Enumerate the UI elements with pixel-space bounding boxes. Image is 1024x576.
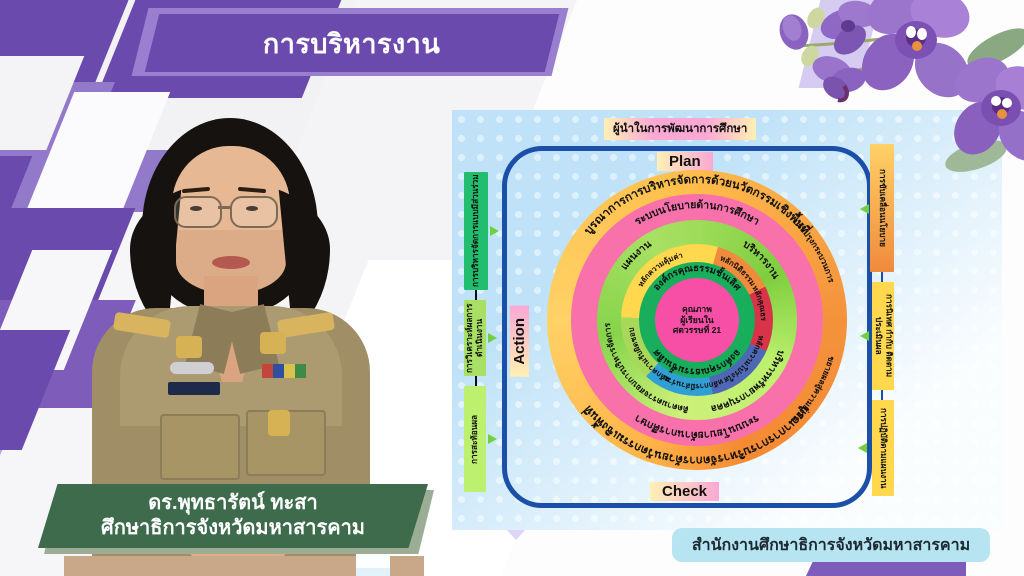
photo-insignia-left [176, 336, 202, 358]
photo-insignia-right [260, 332, 286, 354]
diagram-top-label: ผู้นำในการพัฒนาการศึกษา [604, 118, 756, 140]
left-arrow-1-icon [490, 226, 499, 236]
title-banner: การบริหารงาน [145, 14, 559, 72]
pdca-label-plan: Plan [657, 152, 713, 171]
wheel-core-line-1: คุณภาพ [682, 304, 712, 315]
pdca-label-check: Check [650, 482, 719, 501]
page-title: การบริหารงาน [263, 22, 440, 65]
slide-root: การบริหารงาน [0, 0, 1024, 576]
right-connector-2 [881, 390, 883, 400]
photo-lips [212, 256, 250, 269]
orchid-flower-small-2 [809, 51, 868, 104]
photo-insignia-lower [268, 410, 290, 436]
right-arrow-3-icon [858, 443, 867, 453]
photo-name-tag [168, 382, 220, 395]
right-step-3: การปฏิบัติตามแผนงาน [872, 400, 894, 496]
presenter-position: ศึกษาธิการจังหวัดมหาสารคาม [101, 517, 365, 540]
left-step-1: การบริหารจัดการแบบมีส่วนร่วม [464, 172, 488, 290]
photo-glasses-bridge [218, 206, 232, 209]
footer-text: สำนักงานศึกษาธิการจังหวัดมหาสารคาม [692, 533, 970, 558]
wheel-core-line-3: ศตวรรษที่ 21 [673, 325, 721, 336]
photo-ribbon-bar [262, 364, 306, 378]
photo-glasses-left [174, 196, 222, 228]
presenter-name: ดร.พุทธารัตน์ ทะสา [148, 492, 317, 515]
photo-glasses-right [230, 196, 278, 228]
wheel-core-line-2: ผู้เรียนใน [680, 315, 714, 326]
right-step-2: การนิเทศ กำกับ ติดตาม ประเมินผล [872, 282, 894, 390]
pdca-label-action: Action [510, 306, 529, 377]
left-connector-1 [475, 290, 477, 300]
left-step-2: การวิเคราะห์ผลการดำเนินงาน [464, 300, 486, 376]
photo-pocket-left [160, 414, 240, 480]
presenter-photo [64, 110, 394, 530]
left-arrow-3-icon [488, 434, 497, 444]
footer-banner: สำนักงานศึกษาธิการจังหวัดมหาสารคาม [672, 528, 990, 562]
left-connector-2 [475, 376, 477, 386]
orchid-flowers-decoration [770, 0, 1024, 188]
right-connector-1 [881, 272, 883, 282]
left-arrow-2-icon [488, 333, 497, 343]
name-plate: ดร.พุทธารัตน์ ทะสา ศึกษาธิการจังหวัดมหาส… [38, 484, 428, 548]
right-arrow-2-icon [860, 331, 869, 341]
right-arrow-1-icon [860, 204, 869, 214]
left-step-3: การสะท้อนผล [464, 386, 486, 492]
wheel-core: คุณภาพ ผู้เรียนใน ศตวรรษที่ 21 [655, 278, 739, 362]
photo-wing-badge [170, 362, 214, 374]
strategy-wheel: คุณภาพ ผู้เรียนใน ศตวรรษที่ 21 [547, 170, 847, 470]
